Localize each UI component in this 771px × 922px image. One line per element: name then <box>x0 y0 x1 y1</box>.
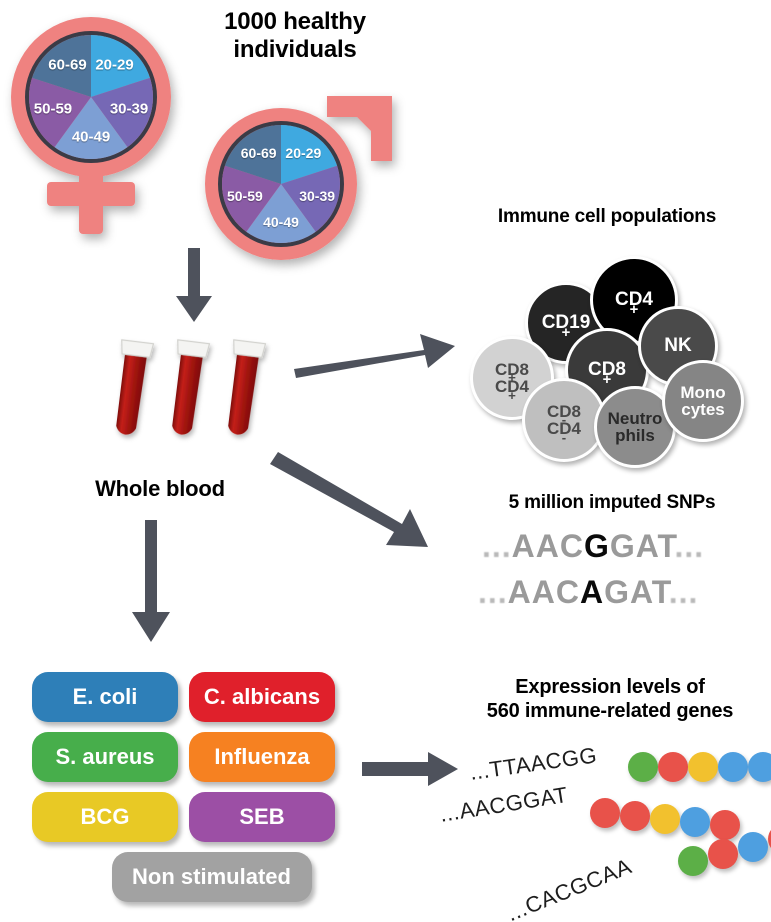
immune-title: Immune cell populations <box>452 206 762 228</box>
immune-cell-label-2: cytes <box>680 401 725 419</box>
immune-cell-label-2: phils <box>608 427 663 445</box>
cohort-heading-line2: individuals <box>170 36 420 64</box>
gene-bead <box>738 832 768 862</box>
dna-sequence-text: ...CACGCAA <box>503 853 635 922</box>
snp-variant: A <box>580 574 604 610</box>
snp-prefix: ... <box>482 528 512 564</box>
expression-title-line2: 560 immune-related genes <box>450 700 770 724</box>
pie-label-20-29: 20-29 <box>285 145 321 161</box>
stimulus-pill[interactable]: Influenza <box>189 732 335 782</box>
pie-label-20-29: 20-29 <box>95 56 133 73</box>
pie-label-50-59: 50-59 <box>34 101 72 118</box>
arrow-blood-to-snps <box>276 450 448 555</box>
cohort-heading: 1000 healthy individuals <box>170 8 420 65</box>
immune-cell-label-2: CD4- <box>547 420 581 438</box>
immune-cell-label: CD8- <box>547 403 581 421</box>
expression-title-line1: Expression levels of <box>450 676 770 700</box>
snp-prefix: ... <box>478 574 508 610</box>
immune-cell-cluster: CD19+CD4+CD8+CD4+CD8+NKCD8-CD4-Neutrophi… <box>470 238 760 418</box>
arrow-down-icon <box>174 248 214 324</box>
male-symbol: 20-2930-3940-4950-5960-69 <box>196 92 416 272</box>
stimulus-pill[interactable]: C. albicans <box>189 672 335 722</box>
stimulus-pill[interactable]: SEB <box>189 792 335 842</box>
pie-label-30-39: 30-39 <box>299 188 335 204</box>
snp-right: GAT <box>604 574 669 610</box>
pie-label-40-49: 40-49 <box>72 129 110 146</box>
snp-sequence-row: ...AACGGAT... <box>482 528 704 565</box>
figure-canvas: 1000 healthy individuals 20-2930-3940-49… <box>0 0 771 922</box>
snp-sequences: ...AACGGAT......AACAGAT... <box>478 528 758 618</box>
snp-right: GAT <box>610 528 675 564</box>
arrow-down-icon-2 <box>130 520 172 644</box>
pie-label-30-39: 30-39 <box>110 101 148 118</box>
pie-label-50-59: 50-59 <box>227 188 263 204</box>
immune-cell-label: NK <box>664 336 691 356</box>
male-symbol-shape <box>196 92 416 272</box>
gene-bead <box>708 839 738 869</box>
immune-cell-label: Mono <box>680 384 725 402</box>
stimulus-pill[interactable]: S. aureus <box>32 732 178 782</box>
arrow-down-right-icon <box>276 450 448 555</box>
immune-cell-label: Neutro <box>608 410 663 428</box>
immune-cell-label: CD8+ <box>588 360 626 380</box>
snp-left: AAC <box>508 574 580 610</box>
immune-cell-monocytes: Monocytes <box>662 360 744 442</box>
blood-tubes-icon <box>104 336 294 466</box>
immune-cell-label: CD19+ <box>542 313 591 333</box>
blood-tubes <box>104 336 294 466</box>
immune-cell-label-2: CD4+ <box>495 378 529 396</box>
expression-strands: ...TTAACGG...AACGGAT...CACGCAA <box>440 742 771 912</box>
gene-bead <box>678 846 708 876</box>
pie-label-40-49: 40-49 <box>263 214 299 230</box>
snp-left: AAC <box>512 528 584 564</box>
immune-cell-cd8-minus-cd4-minus: CD8-CD4- <box>522 378 606 462</box>
whole-blood-label: Whole blood <box>50 476 270 502</box>
snp-sequence-row: ...AACAGAT... <box>478 574 698 611</box>
arrow-blood-to-immune <box>292 330 457 378</box>
snp-suffix: ... <box>669 574 699 610</box>
arrow-up-right-icon <box>292 330 457 378</box>
expression-title: Expression levels of 560 immune-related … <box>450 676 770 723</box>
snp-suffix: ... <box>675 528 705 564</box>
cohort-heading-line1: 1000 healthy <box>170 8 420 36</box>
stimulus-pill[interactable]: E. coli <box>32 672 178 722</box>
female-symbol: 20-2930-3940-4950-5960-69 <box>6 14 206 244</box>
snps-title: 5 million imputed SNPs <box>462 492 762 514</box>
pie-label-60-69: 60-69 <box>48 56 86 73</box>
pie-label-60-69: 60-69 <box>241 145 277 161</box>
stimuli-panel: E. coliC. albicansS. aureusInfluenzaBCGS… <box>32 672 342 902</box>
arrow-blood-to-stimuli <box>130 520 172 644</box>
stimulus-pill[interactable]: Non stimulated <box>112 852 312 902</box>
immune-cell-label: CD4+ <box>615 290 653 310</box>
snp-variant: G <box>584 528 610 564</box>
arrow-cohort-to-blood <box>174 248 214 324</box>
dna-strand: ...CACGCAA <box>440 742 771 912</box>
stimulus-pill[interactable]: BCG <box>32 792 178 842</box>
immune-cell-label: CD8+ <box>495 361 529 379</box>
